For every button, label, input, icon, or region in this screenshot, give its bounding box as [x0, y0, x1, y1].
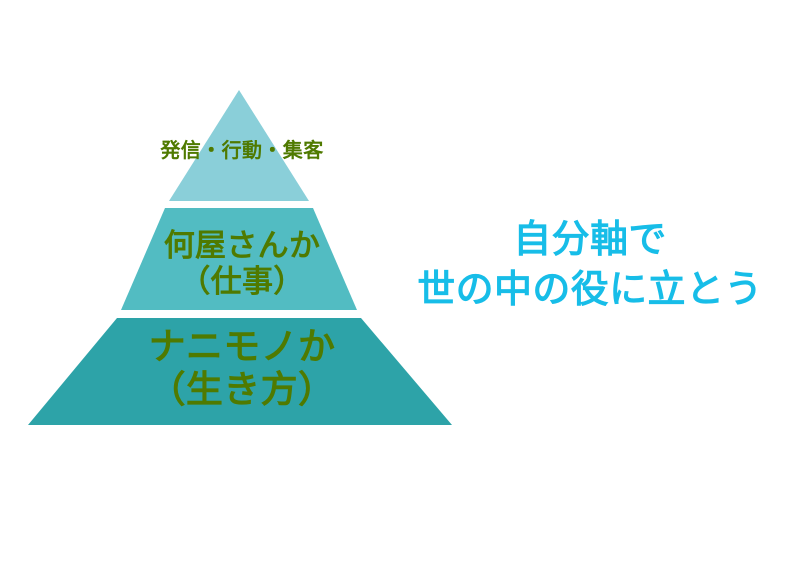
tier-bottom-line-1: ナニモノか	[149, 326, 336, 367]
tier-bottom-line-2: （生き方）	[0, 369, 484, 412]
headline-line-1: 自分軸で	[390, 215, 790, 265]
tier-middle-line-1: 何屋さんか	[164, 228, 321, 263]
slide-canvas: 発信・行動・集客 何屋さんか （仕事） ナニモノか （生き方） 自分軸で 世の中…	[0, 0, 800, 566]
headline-text: 自分軸で 世の中の役に立とう	[390, 215, 790, 315]
headline-line-2: 世の中の役に立とう	[390, 265, 790, 315]
pyramid-tier-bottom-label: ナニモノか （生き方）	[0, 326, 484, 412]
tier-top-line-1: 発信・行動・集客	[160, 140, 323, 162]
pyramid-tier-top-label: 発信・行動・集客	[0, 140, 484, 163]
